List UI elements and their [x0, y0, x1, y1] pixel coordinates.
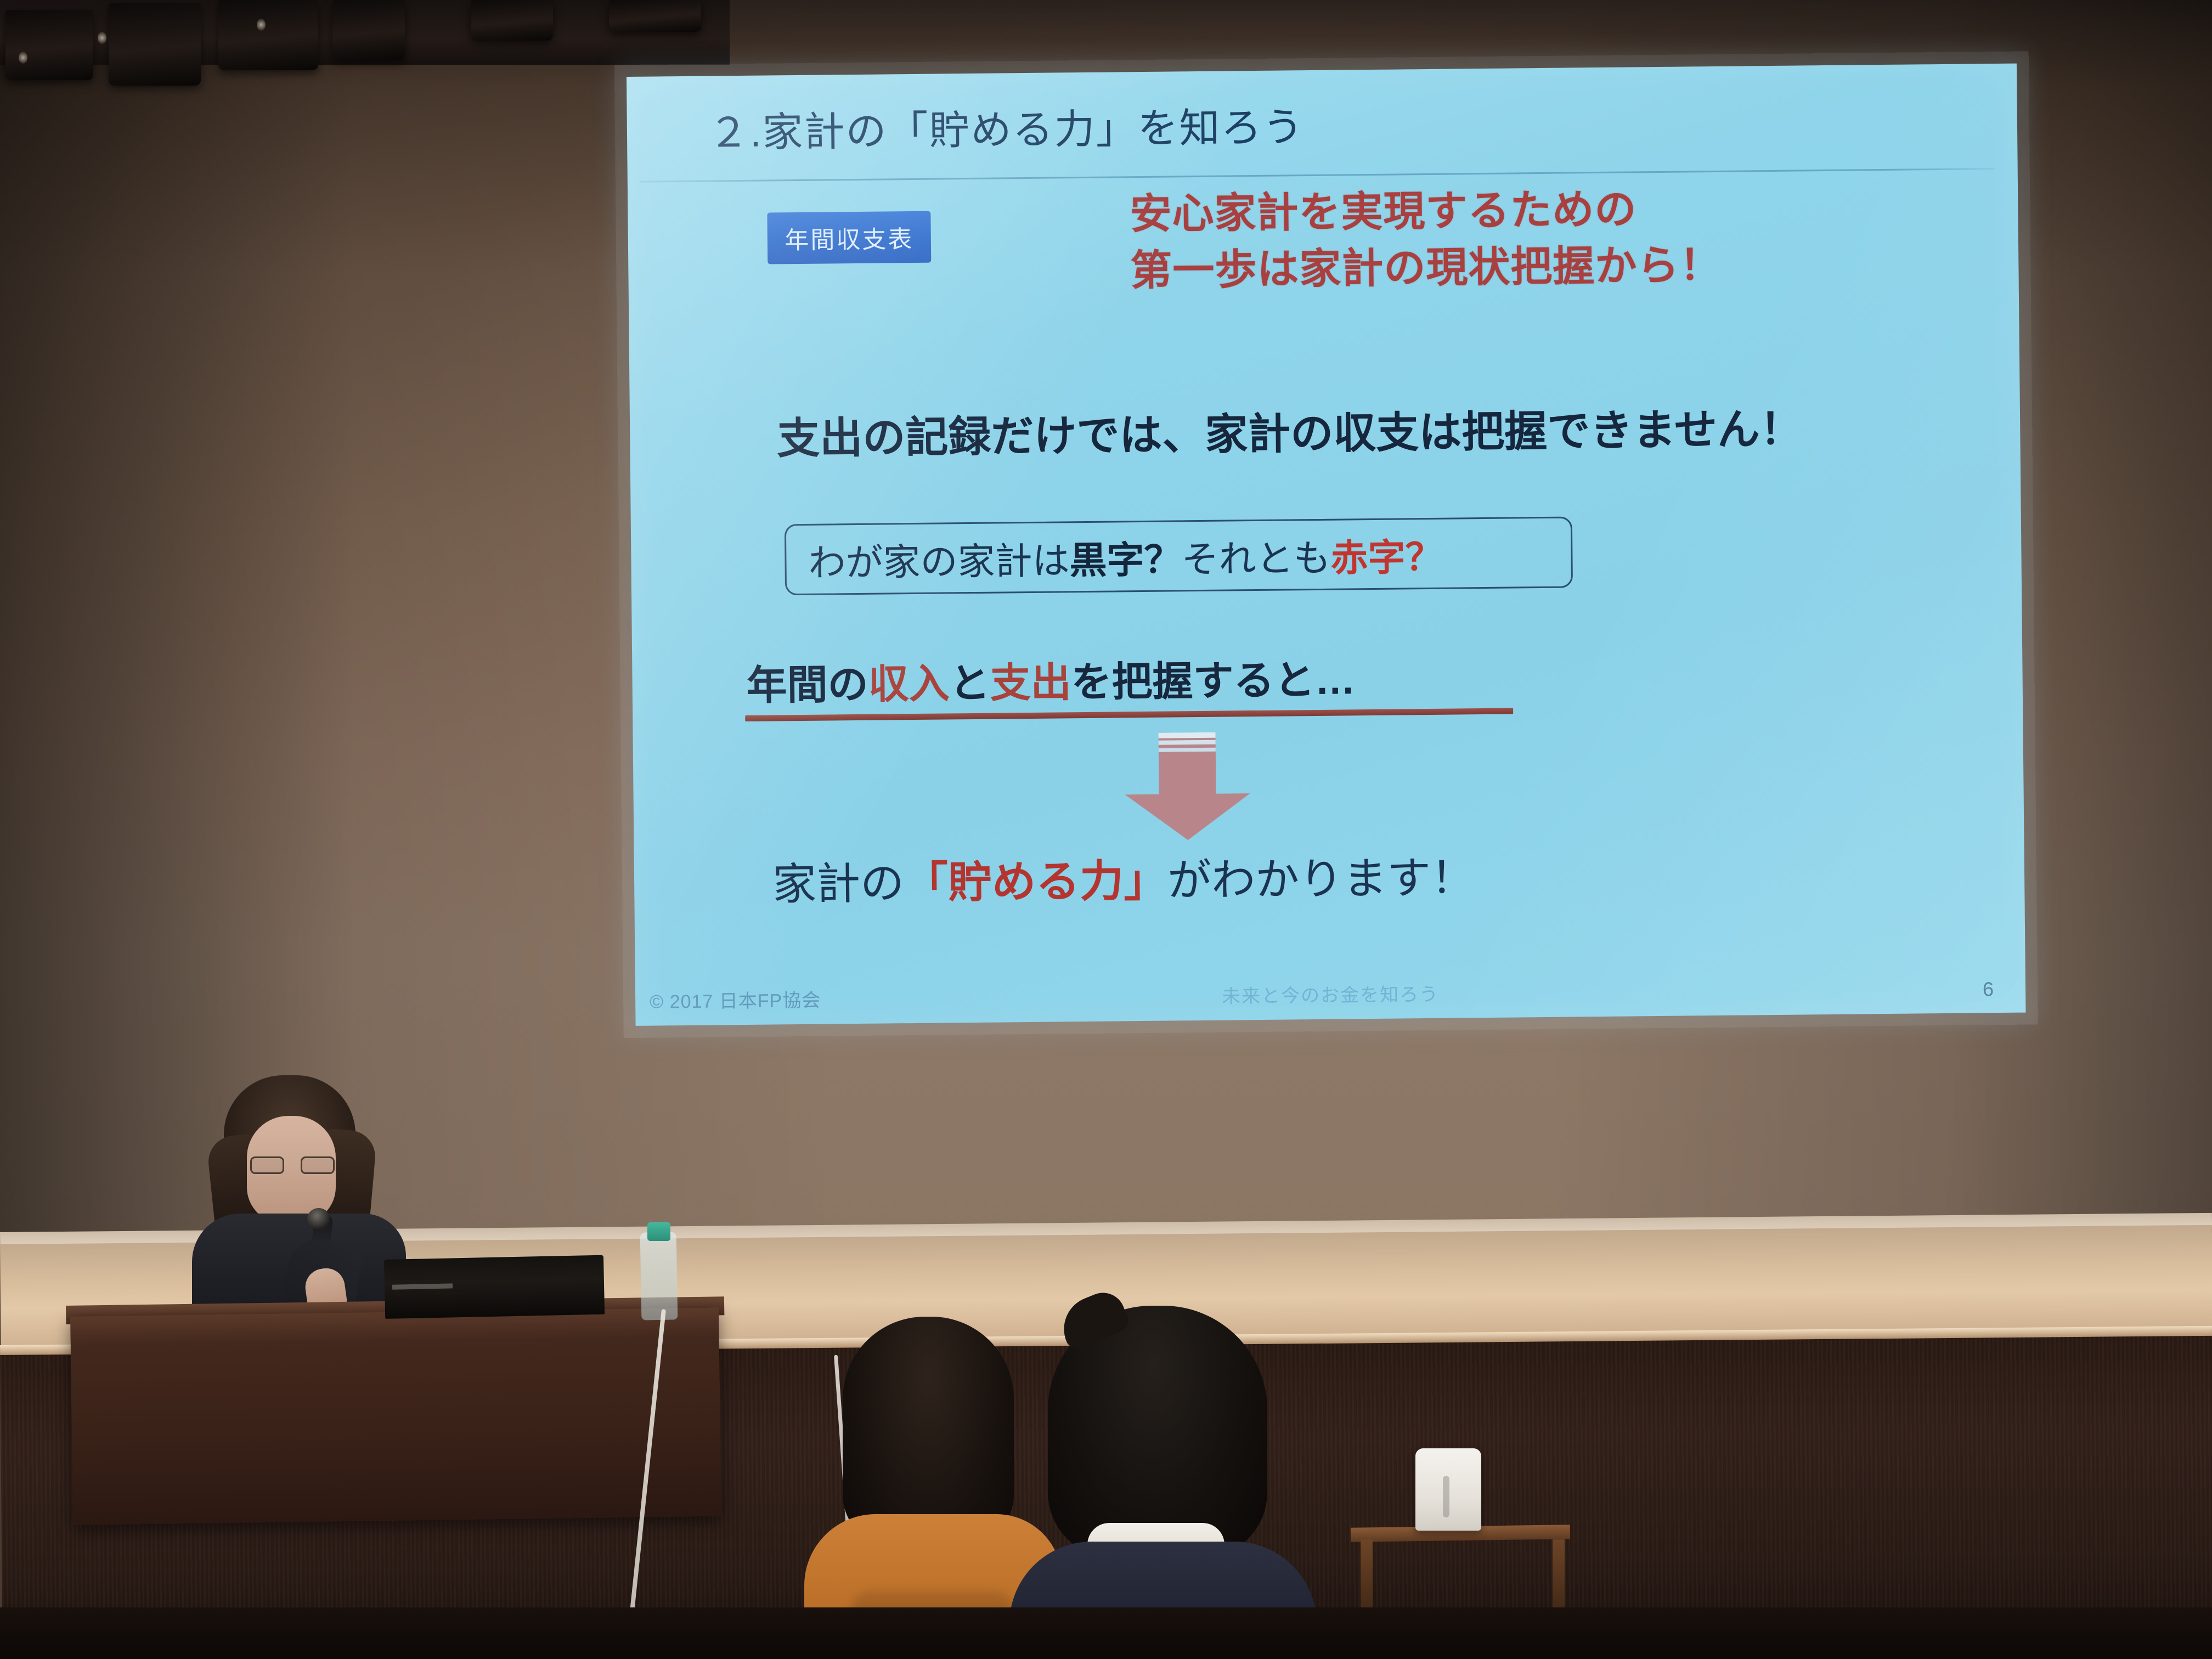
- laptop-brand-label: [392, 1283, 453, 1289]
- stage-light-fixture: [609, 0, 701, 32]
- slide-title: ２.家計の「貯める力」を知ろう: [708, 94, 1305, 159]
- audience-member-man: [1026, 1306, 1300, 1659]
- question-box: わが家の家計は黒字？それとも赤字？: [785, 516, 1573, 595]
- question-emphasis-red: 赤字？: [1330, 536, 1443, 579]
- final-prefix: 家計の: [772, 859, 905, 909]
- foreground-shadow: [0, 1607, 2212, 1659]
- laptop[interactable]: [384, 1255, 605, 1319]
- dark-statement: 支出の記録だけでは、家計の収支は把握できません！: [777, 394, 1803, 466]
- stage-light-fixture: [471, 0, 553, 41]
- annual-budget-badge: 年間収支表: [767, 211, 931, 264]
- question-box-text: わが家の家計は黒字？それとも赤字？: [786, 526, 1443, 586]
- badge-label: 年間収支表: [785, 219, 914, 256]
- summary-income-red: 収入: [868, 661, 950, 707]
- light-glint: [257, 19, 266, 31]
- red-heading-line-1: 安心家計を実現するための: [1130, 180, 1722, 243]
- light-glint: [98, 32, 106, 44]
- stage-light-fixture: [332, 0, 405, 60]
- final-line: 家計の「貯める力」がわかります！: [772, 842, 1475, 912]
- summary-part-2: と: [949, 661, 990, 707]
- title-divider-rule: [640, 168, 1995, 183]
- red-heading: 安心家計を実現するための 第一歩は家計の現状把握から！: [1130, 180, 1722, 300]
- summary-expense-red: 支出: [990, 659, 1071, 706]
- podium: [70, 1307, 721, 1525]
- red-heading-line-2: 第一歩は家計の現状把握から！: [1130, 237, 1722, 300]
- summary-part-3: を把握すると…: [1071, 657, 1356, 705]
- footer-page-number: 6: [1983, 978, 1994, 1001]
- audience-woman-hair: [843, 1317, 1014, 1547]
- down-arrow-icon: [1116, 732, 1260, 840]
- summary-line: 年間の収入と支出を把握すると…: [746, 647, 1356, 712]
- summary-part-1: 年間の: [746, 662, 868, 708]
- final-emphasis-red: 「貯める力」: [904, 856, 1168, 908]
- stage-light-fixture: [5, 10, 93, 80]
- footer-center-title: 未来と今のお金を知ろう: [1222, 979, 1439, 1008]
- stand-leg: [1553, 1539, 1565, 1616]
- water-bottle: [640, 1232, 678, 1320]
- white-box-slit: [1443, 1476, 1449, 1517]
- final-suffix: がわかります！: [1167, 853, 1475, 905]
- question-emphasis-black: 黒字？: [1069, 539, 1182, 582]
- question-prefix: わが家の家計は: [808, 540, 1070, 584]
- presenter-glasses: [250, 1156, 332, 1172]
- stage-light-fixture: [109, 3, 201, 86]
- light-glint: [19, 52, 27, 64]
- presentation-room-photo: ２.家計の「貯める力」を知ろう 年間収支表 安心家計を実現するための 第一歩は家…: [0, 0, 2212, 1659]
- question-middle: それとも: [1181, 537, 1331, 580]
- footer-copyright: © 2017 日本FP協会: [650, 985, 821, 1014]
- water-bottle-cap: [647, 1222, 670, 1241]
- stand-leg: [1361, 1539, 1373, 1616]
- projected-slide: ２.家計の「貯める力」を知ろう 年間収支表 安心家計を実現するための 第一歩は家…: [627, 64, 2025, 1026]
- stage-light-fixture: [218, 0, 318, 70]
